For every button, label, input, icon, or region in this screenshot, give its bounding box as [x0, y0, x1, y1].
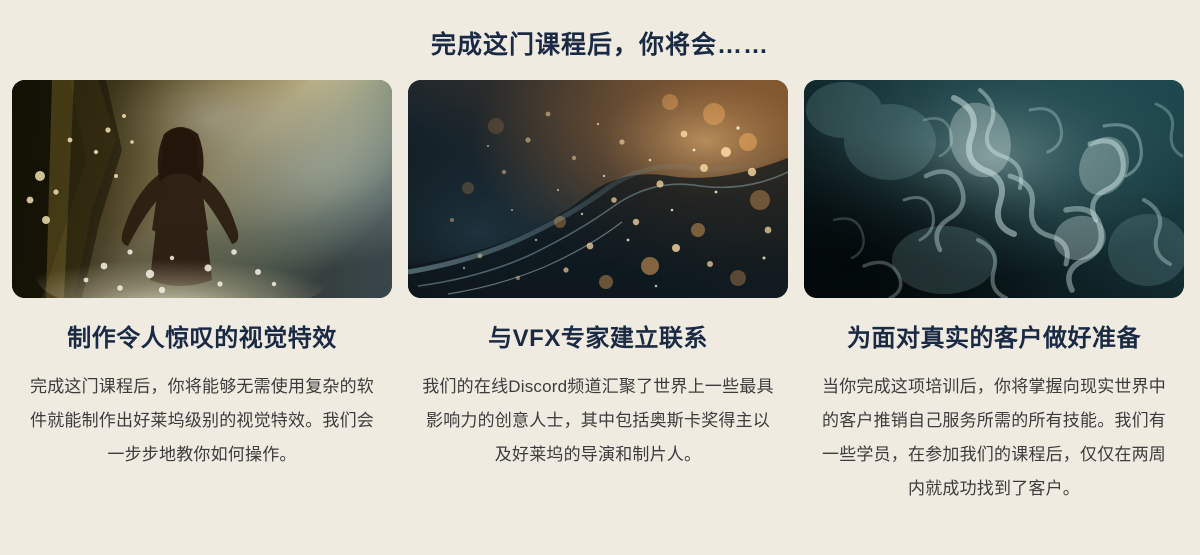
course-benefits-section: 完成这门课程后，你将会…… — [0, 0, 1200, 555]
benefit-card: 制作令人惊叹的视觉特效 完成这门课程后，你将能够无需使用复杂的软件就能制作出好莱… — [12, 80, 392, 506]
benefit-card: 为面对真实的客户做好准备 当你完成这项培训后，你将掌握向现实世界中的客户推销自己… — [804, 80, 1184, 506]
benefit-card: 与VFX专家建立联系 我们的在线Discord频道汇聚了世界上一些最具影响力的创… — [408, 80, 788, 506]
benefit-card-body: 我们的在线Discord频道汇聚了世界上一些最具影响力的创意人士，其中包括奥斯卡… — [419, 354, 777, 472]
benefit-card-title: 与VFX专家建立联系 — [488, 298, 708, 354]
benefit-card-body: 完成这门课程后，你将能够无需使用复杂的软件就能制作出好莱坞级别的视觉特效。我们会… — [23, 354, 381, 472]
benefit-card-title: 为面对真实的客户做好准备 — [847, 298, 1141, 354]
teal-smoke-swirls-on-dark-background-image — [804, 80, 1184, 298]
section-title: 完成这门课程后，你将会…… — [0, 0, 1200, 62]
benefit-card-title: 制作令人惊叹的视觉特效 — [67, 298, 337, 354]
dark-smoke-with-glowing-orange-embers-image — [408, 80, 788, 298]
warrior-running-through-water-golden-backlight-image — [12, 80, 392, 298]
benefit-card-body: 当你完成这项培训后，你将掌握向现实世界中的客户推销自己服务所需的所有技能。我们有… — [815, 354, 1173, 506]
benefit-cards-row: 制作令人惊叹的视觉特效 完成这门课程后，你将能够无需使用复杂的软件就能制作出好莱… — [0, 80, 1200, 506]
